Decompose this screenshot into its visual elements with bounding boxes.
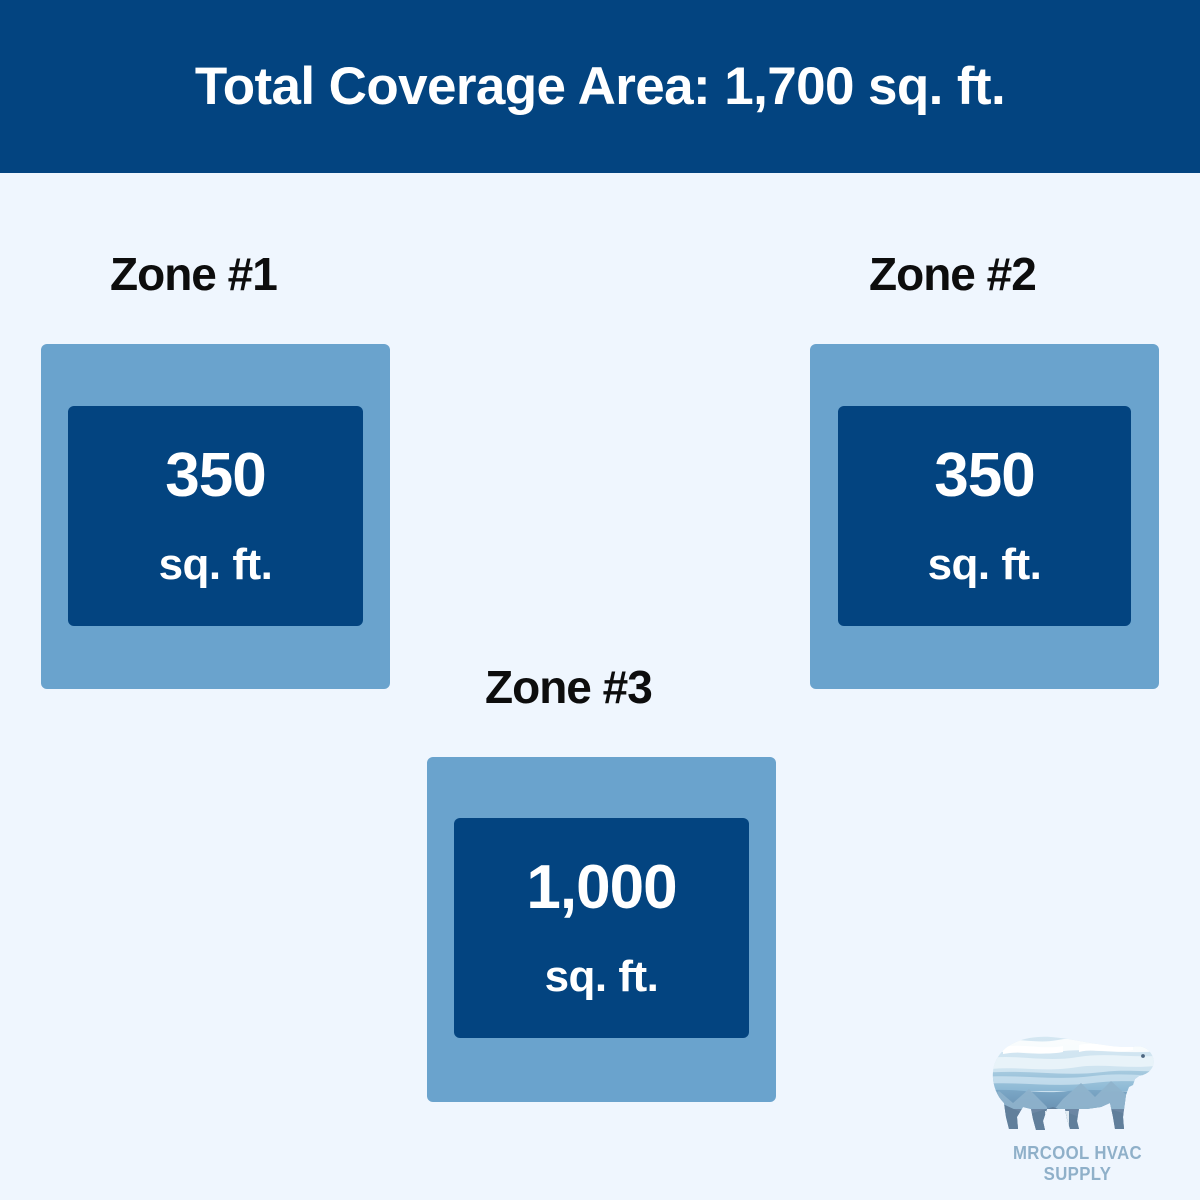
zone-area-value-3: 1,000 <box>526 857 676 919</box>
zone-area-value-1: 350 <box>165 445 265 507</box>
zone-area-value-2: 350 <box>934 445 1034 507</box>
brand-name: MRCOOL HVAC SUPPLY <box>982 1143 1173 1185</box>
zone-area-unit-1: sq. ft. <box>159 543 273 587</box>
zone-label-1: Zone #1 <box>110 251 277 297</box>
zone-label-2: Zone #2 <box>869 251 1036 297</box>
zone-inner-area-1: 350 sq. ft. <box>68 406 363 626</box>
zone-area-unit-3: sq. ft. <box>545 955 659 999</box>
zone-area-unit-2: sq. ft. <box>928 543 1042 587</box>
zone-inner-area-2: 350 sq. ft. <box>838 406 1131 626</box>
page-title: Total Coverage Area: 1,700 sq. ft. <box>195 60 1005 113</box>
zone-inner-area-3: 1,000 sq. ft. <box>454 818 749 1038</box>
zone-label-3: Zone #3 <box>485 664 652 710</box>
polar-bear-icon <box>983 1025 1163 1143</box>
infographic-canvas: Total Coverage Area: 1,700 sq. ft. Zone … <box>0 0 1200 1200</box>
header-banner: Total Coverage Area: 1,700 sq. ft. <box>0 0 1200 173</box>
brand-logo: MRCOOL HVAC SUPPLY <box>975 1025 1180 1185</box>
